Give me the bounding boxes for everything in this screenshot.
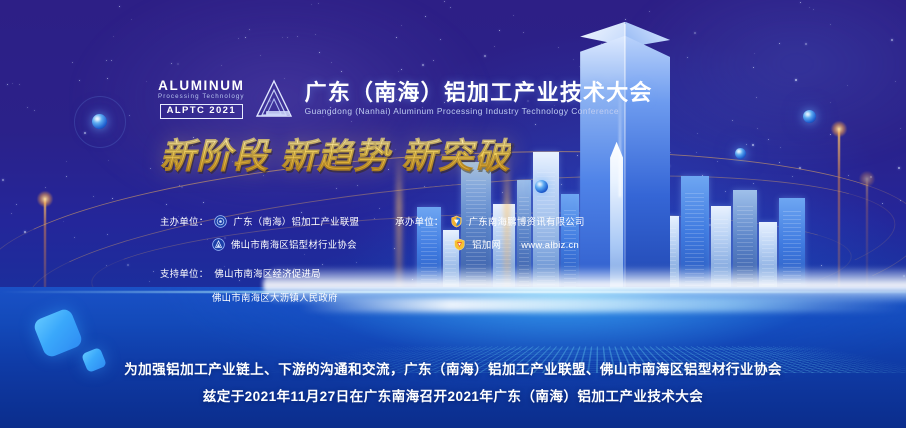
cohost-row-1: 承办单位： 广东南海鹏博资讯有限公司 [395,214,585,228]
host-column: 主办单位： 广东（南海）铝加工产业联盟 [160,214,359,251]
association-circle-logo-icon [212,238,225,251]
organizers-block: 主办单位： 广东（南海）铝加工产业联盟 [160,214,585,251]
host-name-1: 广东（南海）铝加工产业联盟 [233,214,359,228]
cohost-column: 承办单位： 广东南海鹏博资讯有限公司 [395,214,585,251]
support-block: 支持单位： 佛山市南海区经济促进局 佛山市南海区大沥镇人民政府 [160,266,338,304]
event-logo: ALUMINUM Processing Technology ALPTC 202… [158,78,294,120]
aluminum-triangle-logo-icon [254,78,294,120]
cohost-label: 承办单位： [395,214,443,228]
albiz-shield-logo-icon [453,238,466,251]
support-row-1: 支持单位： 佛山市南海区经济促进局 [160,266,338,280]
support-name-2: 佛山市南海区大沥镇人民政府 [212,290,338,304]
logo-subtitle-text: Processing Technology [158,94,245,100]
support-name-1: 佛山市南海区经济促进局 [214,266,320,280]
poster-header: ALUMINUM Processing Technology ALPTC 202… [158,78,653,120]
conference-poster: ALUMINUM Processing Technology ALPTC 202… [0,0,906,428]
footer-line-1: 为加强铝加工产业链上、下游的沟通和交流，广东（南海）铝加工产业联盟、佛山市南海区… [0,357,906,384]
conference-title-cn: 广东（南海）铝加工产业技术大会 [305,81,653,104]
footer-line-2: 兹定于2021年11月27日在广东南海召开2021年广东（南海）铝加工产业技术大… [0,384,906,411]
alliance-circle-logo-icon [214,215,227,228]
support-row-2: 佛山市南海区大沥镇人民政府 [160,290,338,304]
cohost-name-2: 铝加网 [472,237,501,251]
logo-aluminum-text: ALUMINUM [158,79,244,93]
logo-alptc-badge: ALPTC 2021 [160,104,243,119]
host-row-2: 佛山市南海区铝型材行业协会 [160,237,359,251]
host-label: 主办单位： [160,214,208,228]
title-block: 广东（南海）铝加工产业技术大会 Guangdong (Nanhai) Alumi… [305,81,653,116]
footer-announcement: 为加强铝加工产业链上、下游的沟通和交流，广东（南海）铝加工产业联盟、佛山市南海区… [0,357,906,410]
conference-title-en: Guangdong (Nanhai) Aluminum Processing I… [305,107,653,116]
support-label: 支持单位： [160,266,208,280]
host-row-1: 主办单位： 广东（南海）铝加工产业联盟 [160,214,359,228]
pengbo-shield-logo-icon [450,215,463,228]
conference-slogan: 新阶段 新趋势 新突破 [160,137,511,176]
albiz-website-url[interactable]: www.albiz.cn [521,239,579,250]
cohost-name-1: 广东南海鹏博资讯有限公司 [469,214,585,228]
cohost-row-2: 铝加网 www.albiz.cn [395,237,585,251]
host-name-2: 佛山市南海区铝型材行业协会 [231,237,357,251]
logo-wordmark: ALUMINUM Processing Technology ALPTC 202… [158,79,245,119]
